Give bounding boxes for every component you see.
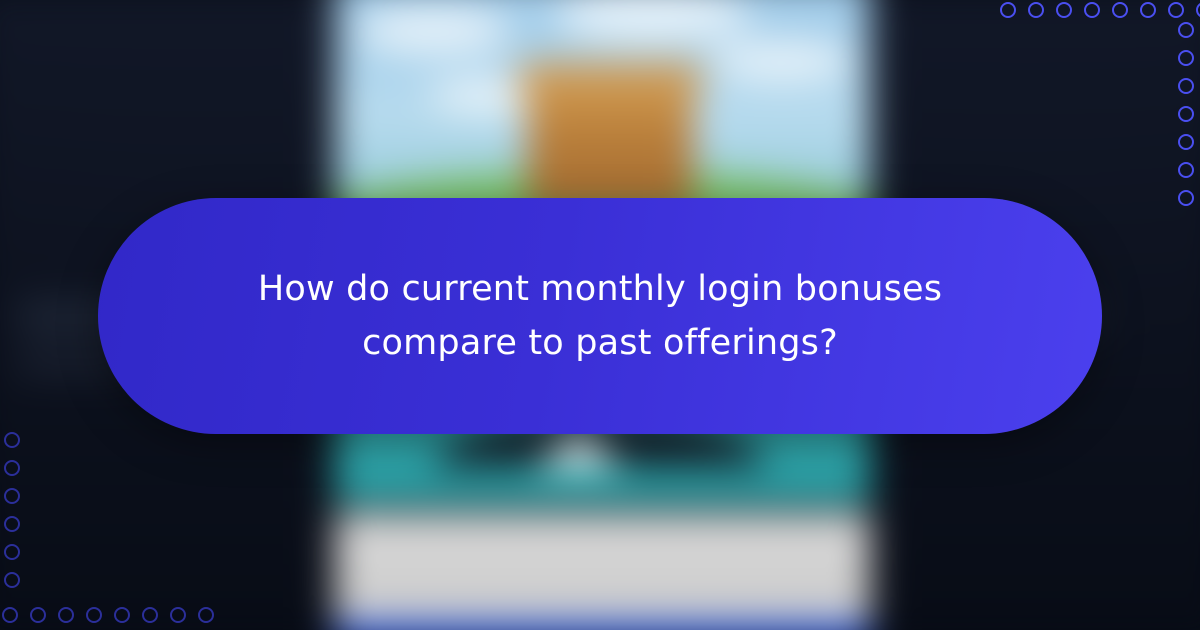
decorative-dot bbox=[1178, 162, 1194, 178]
decorative-dot bbox=[1140, 2, 1156, 18]
decorative-dot bbox=[1000, 2, 1016, 18]
question-bubble: How do current monthly login bonuses com… bbox=[98, 198, 1102, 434]
cloud-shape bbox=[553, 0, 751, 41]
decorative-dot bbox=[1084, 2, 1100, 18]
decorative-dot bbox=[30, 607, 46, 623]
background-blue-bar bbox=[335, 624, 871, 630]
cloud-shape bbox=[356, 6, 512, 54]
decorative-dot bbox=[1178, 106, 1194, 122]
decorative-dots-top-right bbox=[1000, 2, 1200, 18]
decorative-dot bbox=[4, 516, 20, 532]
decorative-dot bbox=[1112, 2, 1128, 18]
background-light-card bbox=[335, 513, 871, 627]
decorative-dot bbox=[4, 488, 20, 504]
decorative-dot bbox=[142, 607, 158, 623]
decorative-dot bbox=[1178, 134, 1194, 150]
decorative-dot bbox=[198, 607, 214, 623]
rock-top-shape bbox=[517, 62, 704, 93]
teal-ground-strip bbox=[335, 467, 871, 502]
decorative-dot bbox=[1168, 2, 1184, 18]
decorative-dot bbox=[4, 432, 20, 448]
cloud-shape bbox=[709, 39, 855, 81]
decorative-dot bbox=[2, 607, 18, 623]
decorative-dot bbox=[4, 572, 20, 588]
decorative-dots-bottom-left bbox=[2, 607, 214, 623]
decorative-dot bbox=[1178, 50, 1194, 66]
decorative-dot bbox=[1178, 22, 1194, 38]
rock-shape bbox=[527, 76, 693, 216]
decorative-dot bbox=[1028, 2, 1044, 18]
decorative-dots-right bbox=[1178, 22, 1194, 206]
screenshot-canvas: How do current monthly login bonuses com… bbox=[0, 0, 1200, 630]
decorative-dot bbox=[86, 607, 102, 623]
decorative-dot bbox=[170, 607, 186, 623]
decorative-dot bbox=[1056, 2, 1072, 18]
decorative-dot bbox=[1196, 2, 1200, 18]
decorative-dot bbox=[1178, 190, 1194, 206]
decorative-dots-left bbox=[4, 432, 20, 588]
decorative-dot bbox=[4, 460, 20, 476]
decorative-dot bbox=[1178, 78, 1194, 94]
decorative-dot bbox=[114, 607, 130, 623]
decorative-dot bbox=[58, 607, 74, 623]
decorative-dot bbox=[4, 544, 20, 560]
question-text: How do current monthly login bonuses com… bbox=[250, 262, 950, 371]
